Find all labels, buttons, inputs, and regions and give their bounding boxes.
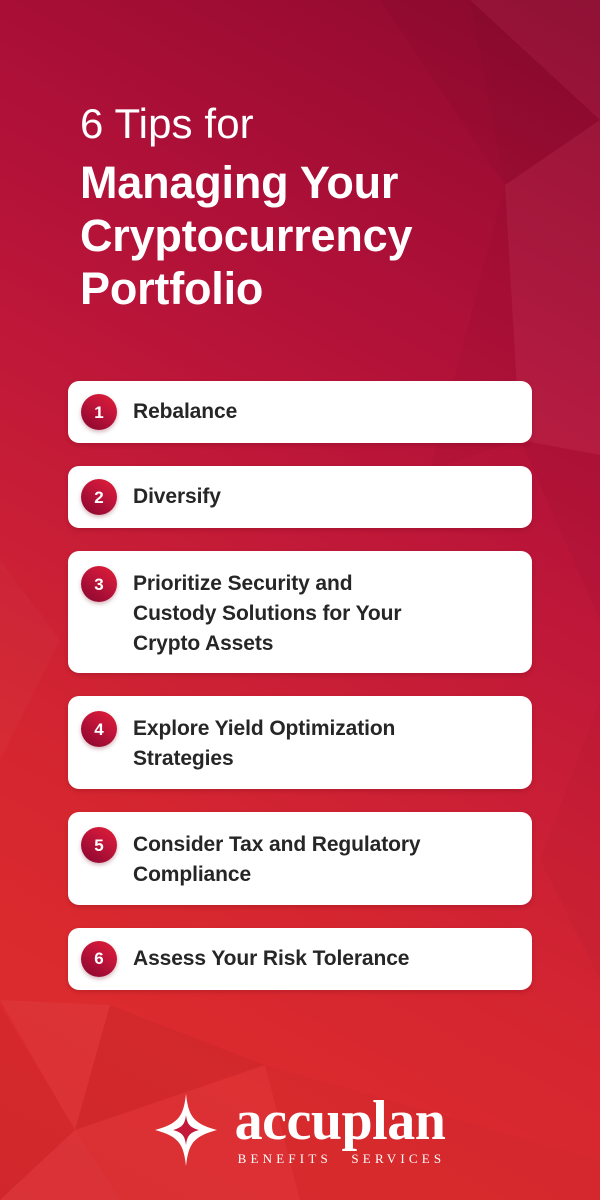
list-item[interactable]: 1 Rebalance	[68, 381, 532, 443]
list-item[interactable]: 5 Consider Tax and Regulatory Compliance	[68, 812, 532, 905]
four-pointed-star-icon	[155, 1094, 217, 1166]
tip-number-badge: 4	[81, 711, 117, 747]
poster-header: 6 Tips for Managing Your Cryptocurrency …	[80, 100, 530, 316]
tip-label: Diversify	[133, 482, 221, 512]
kicker-text: 6 Tips for	[80, 100, 530, 148]
tip-label: Prioritize Security and Custody Solution…	[133, 566, 433, 658]
infographic-poster: 6 Tips for Managing Your Cryptocurrency …	[0, 0, 600, 1200]
list-item[interactable]: 2 Diversify	[68, 466, 532, 528]
headline-line-3: Portfolio	[80, 262, 530, 315]
tip-number-badge: 2	[81, 479, 117, 515]
list-item[interactable]: 4 Explore Yield Optimization Strategies	[68, 696, 532, 789]
page-title: Managing Your Cryptocurrency Portfolio	[80, 156, 530, 315]
tip-number-badge: 1	[81, 394, 117, 430]
tip-label: Rebalance	[133, 397, 237, 427]
tip-number-badge: 6	[81, 941, 117, 977]
logo-wordmark: accuplan BENEFITS SERVICES	[235, 1095, 446, 1164]
brand-logo: accuplan BENEFITS SERVICES	[0, 1094, 600, 1166]
logo-tagline: BENEFITS SERVICES	[235, 1152, 446, 1165]
tip-number-badge: 5	[81, 827, 117, 863]
headline-line-1: Managing Your	[80, 156, 530, 209]
tip-label: Consider Tax and Regulatory Compliance	[133, 827, 433, 890]
headline-line-2: Cryptocurrency	[80, 209, 530, 262]
tips-list: 1 Rebalance 2 Diversify 3 Prioritize Sec…	[68, 381, 532, 990]
list-item[interactable]: 6 Assess Your Risk Tolerance	[68, 928, 532, 990]
list-item[interactable]: 3 Prioritize Security and Custody Soluti…	[68, 551, 532, 673]
logo-name: accuplan	[235, 1095, 446, 1148]
tip-label: Assess Your Risk Tolerance	[133, 944, 409, 974]
tip-label: Explore Yield Optimization Strategies	[133, 711, 423, 774]
logo-tagline-right: SERVICES	[351, 1152, 445, 1165]
logo-tagline-left: BENEFITS	[238, 1152, 332, 1165]
tip-number-badge: 3	[81, 566, 117, 602]
